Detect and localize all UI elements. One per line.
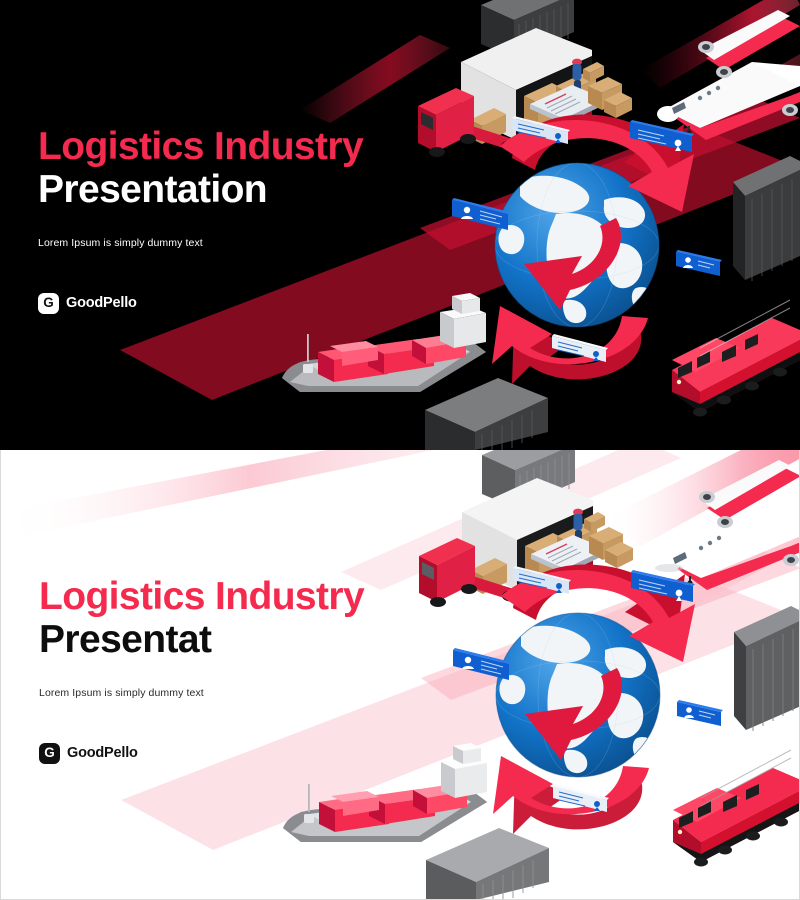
slide-light[interactable]: Logistics Industry Presentat Lorem Ipsum… <box>0 450 800 900</box>
page-subtitle-heading: Presentation <box>38 169 363 210</box>
brand-name: GoodPello <box>66 295 137 311</box>
page-title: Logistics Industry <box>38 126 363 167</box>
logo-mark-icon: G <box>38 293 59 314</box>
page-title: Logistics Industry <box>39 576 364 617</box>
slide-text-block: Logistics Industry Presentation Lorem Ip… <box>38 126 363 314</box>
brand-logo[interactable]: G GoodPello <box>38 293 363 314</box>
slide-subtitle: Lorem Ipsum is simply dummy text <box>38 237 363 249</box>
logo-mark-icon: G <box>39 743 60 764</box>
brand-name: GoodPello <box>67 745 138 761</box>
presentation-deck: Logistics Industry Presentation Lorem Ip… <box>0 0 800 900</box>
slide-text-block: Logistics Industry Presentat Lorem Ipsum… <box>39 576 364 764</box>
slide-subtitle: Lorem Ipsum is simply dummy text <box>39 687 364 699</box>
brand-logo[interactable]: G GoodPello <box>39 743 364 764</box>
slide-dark[interactable]: Logistics Industry Presentation Lorem Ip… <box>0 0 800 450</box>
page-subtitle-heading: Presentat <box>39 619 364 660</box>
